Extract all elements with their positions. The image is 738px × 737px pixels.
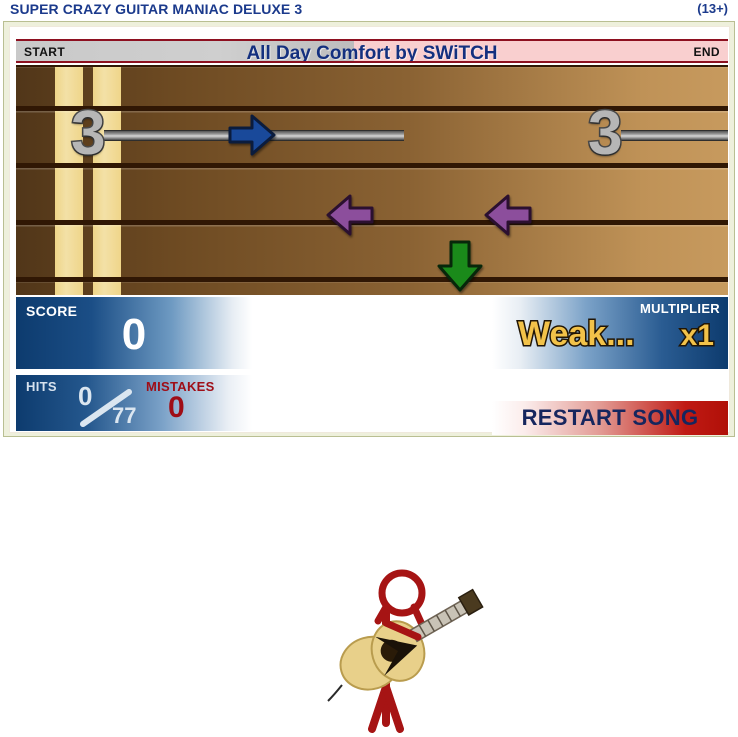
age-rating-badge: (13+) bbox=[697, 1, 728, 16]
note-arrow-down-green[interactable] bbox=[436, 240, 484, 292]
note-arrow-left-purple-1[interactable] bbox=[326, 193, 374, 237]
note-arrow-right-blue[interactable] bbox=[228, 113, 276, 157]
page-header: SUPER CRAZY GUITAR MANIAC DELUXE 3 (13+) bbox=[0, 0, 738, 20]
game-viewport: START All Day Comfort by SWiTCH END 3 3 bbox=[9, 26, 730, 433]
multiplier-label: MULTIPLIER bbox=[640, 301, 720, 316]
song-progress-bar: START All Day Comfort by SWiTCH END bbox=[16, 39, 728, 63]
fret-line-bottom bbox=[16, 277, 728, 282]
hits-total-value: 77 bbox=[112, 405, 136, 427]
game-frame: START All Day Comfort by SWiTCH END 3 3 bbox=[3, 21, 735, 437]
mistakes-value: 0 bbox=[168, 393, 185, 423]
hud: SCORE 0 HITS 0 77 MISTAKES 0 MULTIPLIER bbox=[16, 297, 728, 431]
hits-label: HITS bbox=[26, 379, 57, 394]
lane-sheen-2 bbox=[16, 168, 728, 170]
multiplier-rank: Weak... bbox=[518, 317, 635, 351]
restart-song-button[interactable]: RESTART SONG bbox=[492, 401, 728, 435]
fretboard[interactable]: 3 3 bbox=[16, 65, 728, 295]
song-title: All Day Comfort by SWiTCH bbox=[16, 43, 728, 63]
hits-fraction: 0 77 bbox=[70, 383, 150, 429]
note-tail-right bbox=[621, 130, 728, 141]
multiplier-value: x1 bbox=[681, 321, 714, 351]
note-number-right[interactable]: 3 bbox=[588, 103, 622, 165]
note-arrow-left-purple-2[interactable] bbox=[484, 193, 532, 237]
fret-line-top bbox=[16, 65, 728, 67]
note-number-left[interactable]: 3 bbox=[71, 103, 105, 165]
guitarist-avatar bbox=[306, 563, 486, 737]
hits-mistakes-panel: HITS 0 77 MISTAKES 0 bbox=[16, 375, 252, 431]
multiplier-panel: MULTIPLIER Weak... x1 bbox=[492, 297, 728, 369]
page-title: SUPER CRAZY GUITAR MANIAC DELUXE 3 bbox=[10, 1, 302, 17]
score-value: 0 bbox=[16, 313, 252, 357]
end-label: END bbox=[693, 45, 720, 59]
score-panel: SCORE 0 bbox=[16, 297, 252, 369]
restart-song-label: RESTART SONG bbox=[492, 405, 728, 431]
